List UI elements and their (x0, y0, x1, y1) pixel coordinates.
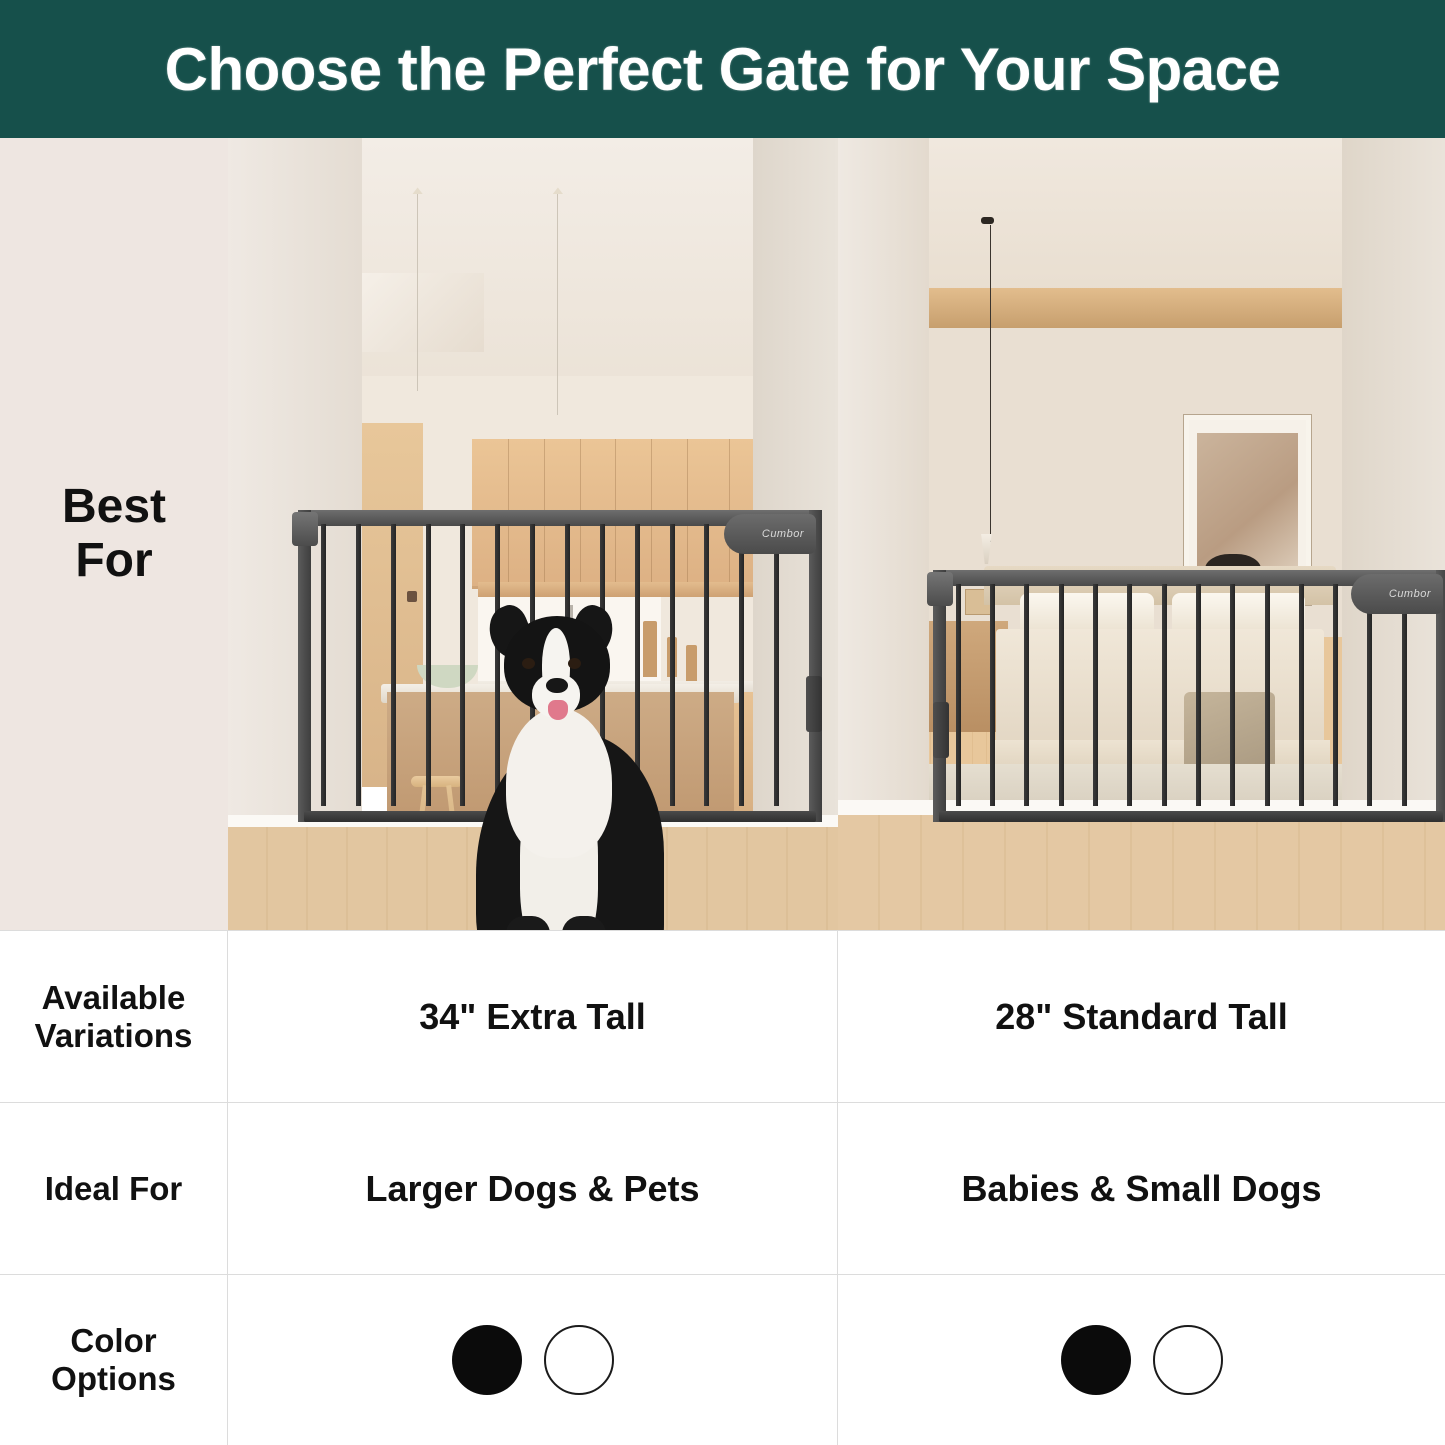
baby-gate-28-inch: Cumbor (933, 570, 1445, 822)
photo-bedroom-with-baby: Cumbor 28in (838, 138, 1445, 930)
gate-brand-label: Cumbor (1389, 588, 1431, 600)
cell-ideal-for-left: Larger Dogs & Pets (228, 1103, 838, 1274)
color-swatch-black[interactable] (1061, 1325, 1131, 1395)
dog-tongue (548, 700, 568, 720)
row-label-ideal-for: Ideal For (0, 1103, 228, 1274)
dog-eye-left (522, 658, 535, 669)
table-row-color-options: Color Options (0, 1274, 1445, 1445)
gate-latch-handle[interactable]: Cumbor (724, 514, 816, 554)
color-swatch-white[interactable] (1153, 1325, 1223, 1395)
swatch-group-left (452, 1325, 614, 1395)
page-title: Choose the Perfect Gate for Your Space (165, 35, 1281, 104)
gate-brand-label: Cumbor (762, 528, 804, 540)
header-banner: Choose the Perfect Gate for Your Space (0, 0, 1445, 138)
row-label-color-options: Color Options (0, 1275, 228, 1445)
color-swatch-black[interactable] (452, 1325, 522, 1395)
infographic-page: Choose the Perfect Gate for Your Space B… (0, 0, 1445, 1445)
gate-side-latch[interactable] (933, 702, 949, 758)
comparison-table: Available Variations 34" Extra Tall 28" … (0, 930, 1445, 1445)
pendant-ceiling-mount (981, 217, 994, 224)
kitchen-ceiling (338, 138, 765, 399)
row-label-line-2: Variations (35, 1017, 193, 1055)
row-label-line-1: Color (51, 1322, 176, 1360)
row-label-available-variations: Available Variations (0, 931, 228, 1102)
gate-post-right (809, 510, 822, 822)
dog-neck-ruff (506, 708, 612, 858)
bedroom-crown-molding (917, 288, 1348, 328)
color-swatch-white[interactable] (544, 1325, 614, 1395)
dog-eye-right (568, 658, 581, 669)
hero-row-label: Best For (0, 138, 228, 930)
row-label-line-1: Ideal For (45, 1170, 183, 1208)
table-row-available-variations: Available Variations 34" Extra Tall 28" … (0, 930, 1445, 1102)
cell-variations-left: 34" Extra Tall (228, 931, 838, 1102)
hero-comparison-band: Best For (0, 138, 1445, 930)
row-label-line-2: Options (51, 1360, 176, 1398)
table-row-ideal-for: Ideal For Larger Dogs & Pets Babies & Sm… (0, 1102, 1445, 1274)
gate-side-latch[interactable] (806, 676, 822, 732)
row-label-line-1: Available (35, 979, 193, 1017)
cell-ideal-for-right: Babies & Small Dogs (838, 1103, 1445, 1274)
dog-nose (546, 678, 568, 693)
gate-bottom-rail (939, 811, 1443, 822)
pendant-light-cord-2 (557, 193, 558, 415)
hero-label-line-1: Best (62, 480, 166, 534)
swatch-group-right (1061, 1325, 1223, 1395)
gate-post-left (298, 510, 311, 822)
hero-row-label-text: Best For (62, 480, 166, 588)
border-collie-dog (476, 616, 676, 930)
gate-latch-handle[interactable]: Cumbor (1351, 574, 1443, 614)
cell-variations-right: 28" Standard Tall (838, 931, 1445, 1102)
gate-post-left (933, 570, 946, 822)
bedroom-floor (838, 815, 1445, 930)
gate-wall-mount-top (927, 572, 953, 606)
cell-colors-left (228, 1275, 838, 1445)
pendant-light-cord-1 (417, 193, 418, 391)
pendant-cord (990, 225, 992, 542)
gate-wall-mount-top (292, 512, 318, 546)
gate-vertical-bars (946, 584, 1436, 806)
photo-kitchen-with-dog: Cumbor 34in (228, 138, 838, 930)
cell-colors-right (838, 1275, 1445, 1445)
hero-label-line-2: For (62, 534, 166, 588)
